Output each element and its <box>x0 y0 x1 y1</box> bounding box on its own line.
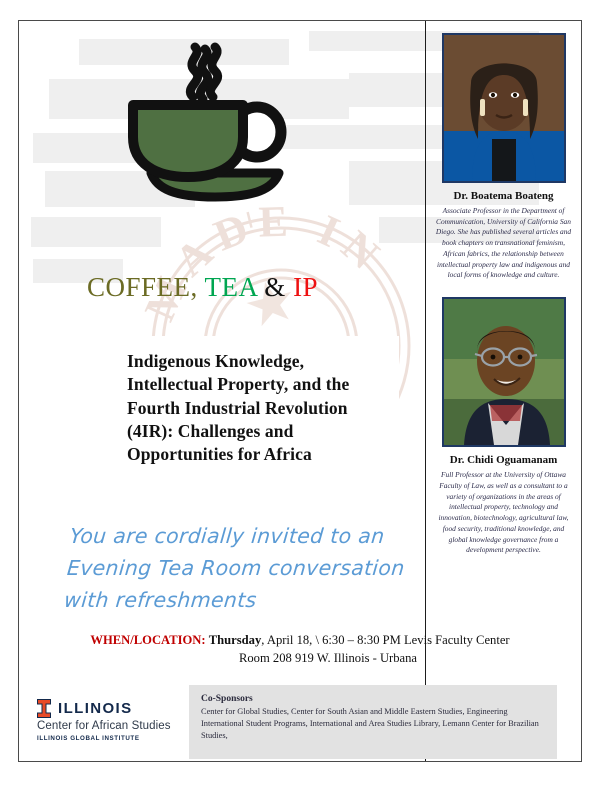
invitation-text: You are cordially invited to an Evening … <box>63 521 451 616</box>
kicker-tea: TEA <box>205 272 258 302</box>
poster-kicker: COFFEE, TEA & IP <box>87 274 318 301</box>
cosponsors-list: Center for Global Studies, Center for So… <box>201 706 547 742</box>
logo-unit-name: Center for African Studies <box>37 720 202 732</box>
title-box: Indigenous Knowledge, Intellectual Prope… <box>109 336 399 482</box>
speaker-card: Dr. Boatema Boateng Associate Professor … <box>426 33 581 281</box>
logo-institute-name: ILLINOIS GLOBAL INSTITUTE <box>37 735 202 742</box>
speaker-name: Dr. Chidi Oguamanam <box>426 454 581 466</box>
kicker-coffee: COFFEE, <box>87 272 198 302</box>
speaker-bio: Full Professor at the University of Otta… <box>436 470 572 556</box>
poster-page: MADE IN AFRICA <box>0 0 600 787</box>
illinois-logo: ILLINOIS Center for African Studies ILLI… <box>37 699 202 742</box>
kicker-ampersand: & <box>264 272 286 302</box>
kicker-ip: IP <box>293 272 318 302</box>
poster-frame: MADE IN AFRICA <box>18 20 582 762</box>
cosponsors-heading: Co-Sponsors <box>201 694 547 704</box>
block-i-icon <box>37 699 51 718</box>
speaker-card: Dr. Chidi Oguamanam Full Professor at th… <box>426 297 581 556</box>
speaker-name: Dr. Boatema Boateng <box>426 190 581 202</box>
event-day: Thursday <box>209 633 262 647</box>
page-title: Indigenous Knowledge, Intellectual Prope… <box>127 350 389 466</box>
illinois-wordmark: ILLINOIS <box>58 700 133 717</box>
avatar <box>442 33 566 183</box>
avatar <box>442 297 566 447</box>
when-location-label: WHEN/LOCATION: <box>90 633 205 647</box>
cosponsors-panel: Co-Sponsors Center for Global Studies, C… <box>189 685 557 759</box>
speaker-bio: Associate Professor in the Department of… <box>436 206 572 281</box>
event-room-address: Room 208 919 W. Illinois - Urbana <box>19 650 581 668</box>
event-time-venue: , April 18, \ 6:30 – 8:30 PM Levis Facul… <box>261 633 509 647</box>
coffee-cup-icon <box>115 37 315 222</box>
event-details: WHEN/LOCATION: Thursday, April 18, \ 6:3… <box>19 632 581 668</box>
